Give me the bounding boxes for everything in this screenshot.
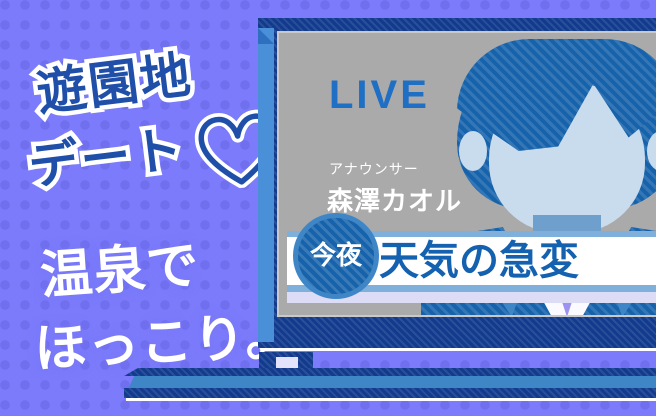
anchor-role-label: アナウンサー — [329, 159, 419, 179]
tv-side-panel — [258, 28, 274, 342]
tv-side-shadow — [258, 28, 274, 44]
news-headline: 天気の急変 — [379, 237, 579, 285]
news-lower-third-banner: 天気の急変 今夜 — [287, 231, 656, 303]
tonight-badge-label: 今夜 — [310, 243, 362, 269]
promo-line-3: 温泉で — [38, 223, 202, 309]
avatar-ear-left — [459, 131, 487, 171]
tonight-badge: 今夜 — [293, 213, 379, 299]
live-badge-label: LIVE — [329, 73, 430, 118]
tv-stand-base-top — [124, 368, 656, 376]
anchor-name-label: 森澤カオル — [327, 181, 462, 218]
poster-canvas: 遊園地 デート 温泉で ほっこり。 — [0, 0, 656, 416]
tv-bezel-highlight — [262, 348, 656, 351]
tv-screen: LIVE アナウンサー 森澤カオル 天気の急変 今夜 — [277, 31, 656, 317]
tv-stand-base-highlight — [126, 398, 656, 401]
tv-stand-base-bottom — [124, 388, 656, 398]
television: LIVE アナウンサー 森澤カオル 天気の急変 今夜 — [258, 18, 656, 348]
